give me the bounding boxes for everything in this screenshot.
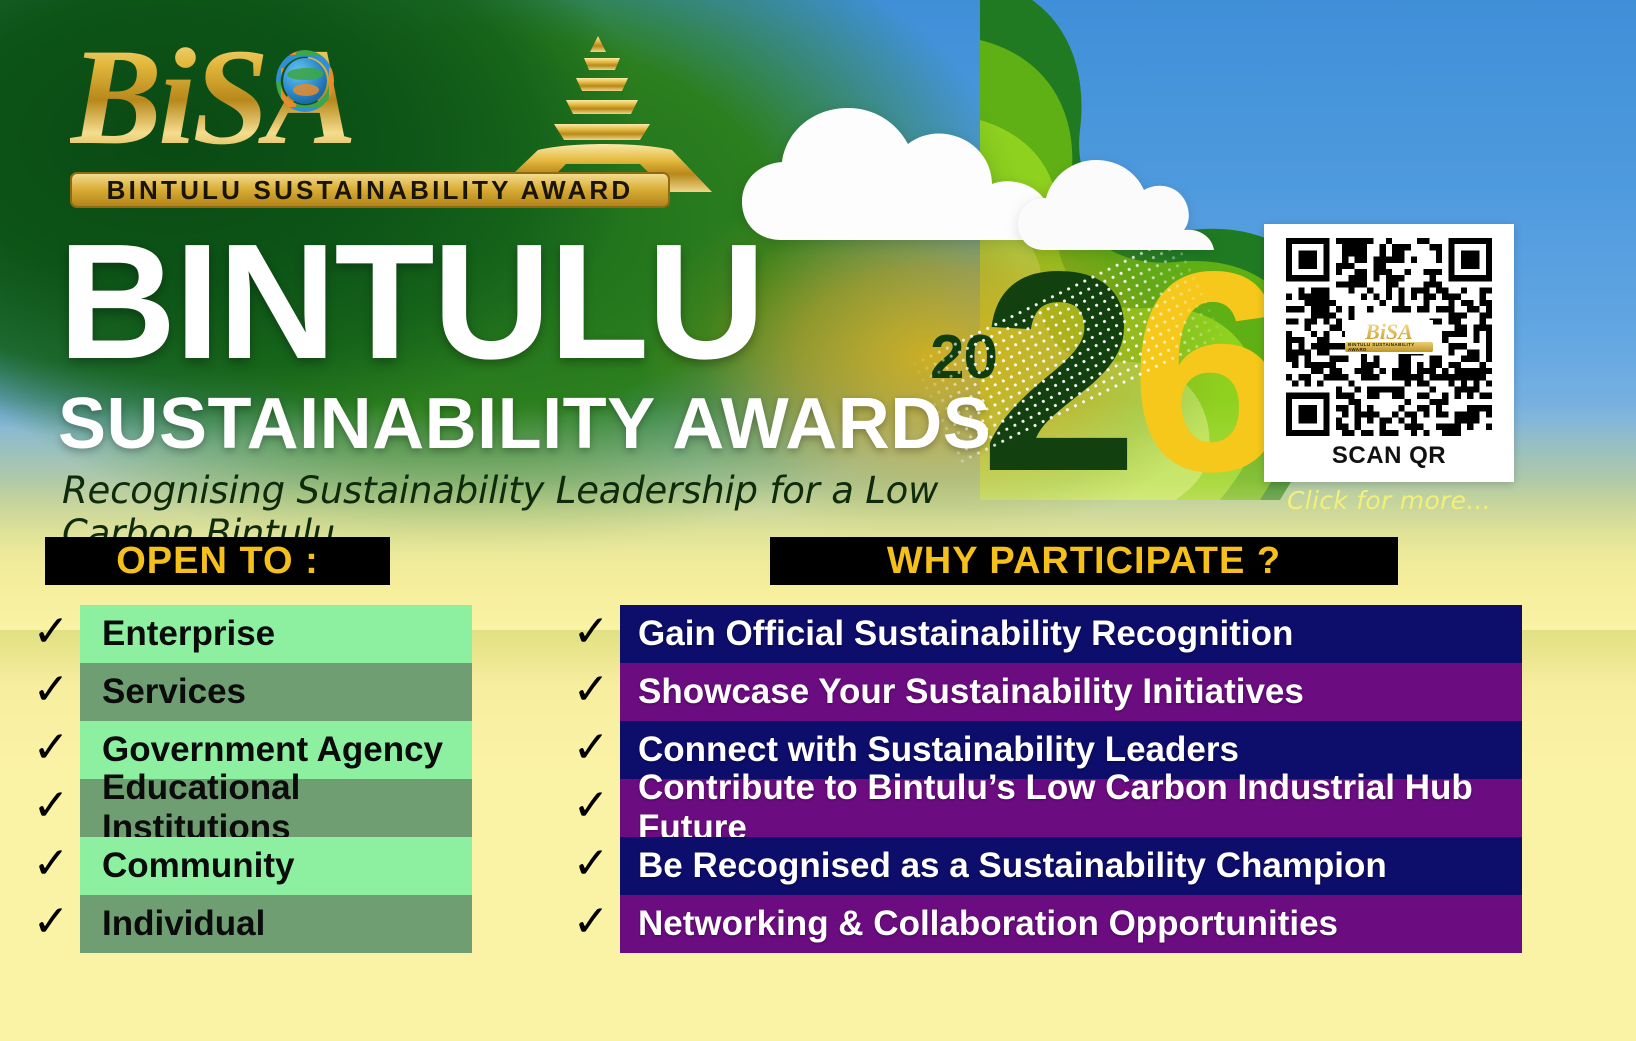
why-participate-item: ✓Be Recognised as a Sustainability Champ… [562, 837, 1522, 895]
check-icon: ✓ [22, 668, 80, 712]
check-icon: ✓ [562, 784, 620, 828]
check-icon: ✓ [562, 726, 620, 770]
pyramid-tower-icon [480, 34, 750, 194]
qr-label: SCAN QR [1332, 442, 1446, 470]
open-to-item-label: Educational Institutions [102, 768, 472, 848]
qr-embedded-wordmark: BiSA [1365, 322, 1413, 342]
why-participate-item-label: Showcase Your Sustainability Initiatives [638, 672, 1304, 712]
page-subtitle: SUSTAINABILITY AWARDS [58, 383, 998, 465]
qr-click-for-more[interactable]: Click for more... [1264, 486, 1514, 515]
open-to-list: ✓Enterprise✓Services✓Government Agency✓E… [22, 605, 472, 953]
qr-embedded-logo: BiSA BINTULU SUSTAINABILITY AWARD [1345, 320, 1433, 354]
open-to-item: ✓Community [22, 837, 472, 895]
open-to-item-label: Services [102, 672, 246, 712]
bisa-logo[interactable]: BiSA BINTULU SUSTAINABILITY AWARD [70, 22, 690, 212]
section-header-why-participate-label: WHY PARTICIPATE ? [887, 540, 1281, 583]
why-participate-item: ✓Contribute to Bintulu’s Low Carbon Indu… [562, 779, 1522, 837]
open-to-item-pill: Educational Institutions [80, 779, 472, 837]
why-participate-item-label: Contribute to Bintulu’s Low Carbon Indus… [638, 768, 1522, 848]
why-participate-item-label: Be Recognised as a Sustainability Champi… [638, 846, 1387, 886]
year-2026-graphic: 2 6 20 [912, 228, 1212, 503]
headline-block: BINTULU SUSTAINABILITY AWARDS Recognisin… [58, 226, 998, 555]
check-icon: ✓ [22, 842, 80, 886]
why-participate-item: ✓Networking & Collaboration Opportunitie… [562, 895, 1522, 953]
check-icon: ✓ [22, 784, 80, 828]
open-to-item-label: Community [102, 846, 295, 886]
why-participate-item-pill: Be Recognised as a Sustainability Champi… [620, 837, 1522, 895]
open-to-item-pill: Services [80, 663, 472, 721]
open-to-item-pill: Community [80, 837, 472, 895]
why-participate-item-pill: Gain Official Sustainability Recognition [620, 605, 1522, 663]
open-to-item: ✓Individual [22, 895, 472, 953]
why-participate-item: ✓Showcase Your Sustainability Initiative… [562, 663, 1522, 721]
check-icon: ✓ [562, 668, 620, 712]
open-to-item-label: Enterprise [102, 614, 275, 654]
check-icon: ✓ [22, 900, 80, 944]
logo-banner: BINTULU SUSTAINABILITY AWARD [70, 172, 670, 208]
section-header-why-participate: WHY PARTICIPATE ? [770, 537, 1398, 585]
logo-banner-text: BINTULU SUSTAINABILITY AWARD [107, 175, 634, 206]
why-participate-item-pill: Contribute to Bintulu’s Low Carbon Indus… [620, 779, 1522, 837]
open-to-item: ✓Services [22, 663, 472, 721]
check-icon: ✓ [562, 610, 620, 654]
why-participate-item: ✓Gain Official Sustainability Recognitio… [562, 605, 1522, 663]
section-header-open-to: OPEN TO : [45, 537, 390, 585]
check-icon: ✓ [22, 726, 80, 770]
qr-block[interactable]: BiSA BINTULU SUSTAINABILITY AWARD SCAN Q… [1264, 224, 1514, 515]
open-to-item-pill: Individual [80, 895, 472, 953]
poster-canvas: BiSA BINTULU SUSTAINABILITY AWARD [0, 0, 1636, 1041]
why-participate-item-label: Connect with Sustainability Leaders [638, 730, 1239, 770]
qr-card[interactable]: BiSA BINTULU SUSTAINABILITY AWARD SCAN Q… [1264, 224, 1514, 482]
why-participate-list: ✓Gain Official Sustainability Recognitio… [562, 605, 1522, 953]
why-participate-item-pill: Networking & Collaboration Opportunities [620, 895, 1522, 953]
qr-code[interactable]: BiSA BINTULU SUSTAINABILITY AWARD [1286, 238, 1492, 436]
open-to-item-pill: Enterprise [80, 605, 472, 663]
why-participate-item-label: Gain Official Sustainability Recognition [638, 614, 1293, 654]
page-title: BINTULU [58, 226, 998, 379]
open-to-item: ✓Educational Institutions [22, 779, 472, 837]
section-header-open-to-label: OPEN TO : [116, 540, 319, 583]
why-participate-item-label: Networking & Collaboration Opportunities [638, 904, 1338, 944]
open-to-item-label: Individual [102, 904, 265, 944]
check-icon: ✓ [562, 900, 620, 944]
check-icon: ✓ [22, 610, 80, 654]
why-participate-item-pill: Showcase Your Sustainability Initiatives [620, 663, 1522, 721]
qr-embedded-subtext: BINTULU SUSTAINABILITY AWARD [1345, 342, 1433, 352]
open-to-item: ✓Enterprise [22, 605, 472, 663]
check-icon: ✓ [562, 842, 620, 886]
globe-icon [283, 58, 327, 104]
open-to-item-label: Government Agency [102, 730, 443, 770]
